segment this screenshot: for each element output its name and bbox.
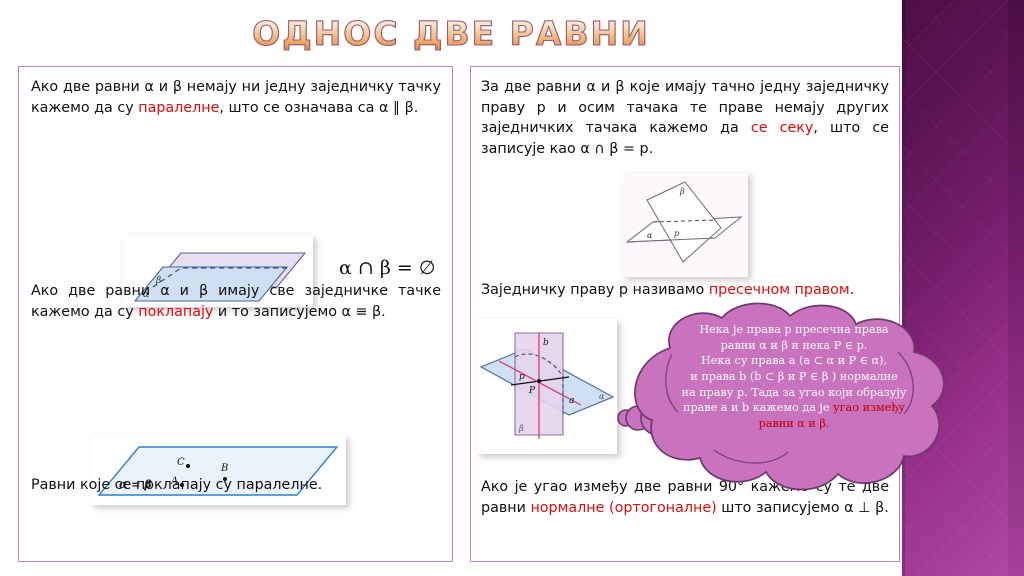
cloud-line-4: и права b (b ⊂ β и P ∈ β ) нормалне: [690, 370, 897, 383]
right-p3-highlight: нормалне (ортогоналне): [530, 500, 716, 516]
right-p2-after: .: [850, 282, 855, 298]
svg-text:β: β: [518, 424, 524, 433]
right-p2-before: Заједничку праву p називамо: [481, 282, 709, 298]
title-bar: ОДНОС ДВЕ РАВНИ: [0, 8, 902, 58]
cloud-line-2: равни α и β и нека P ∈ p.: [721, 339, 868, 352]
intersecting-planes-svg: α β p: [623, 172, 748, 277]
figure-intersecting-planes: α β p: [623, 172, 748, 277]
left-p2-highlight: поклапају: [138, 304, 213, 320]
cloud-callout-text: Нека је права p пресечна права равни α и…: [666, 322, 922, 432]
figure-normal-planes: p P a b α β: [477, 319, 617, 454]
svg-text:P: P: [528, 386, 536, 396]
cloud-line-3: Нека су права a (a ⊂ α и P ∈ α),: [701, 354, 887, 367]
svg-text:b: b: [543, 338, 549, 348]
page-title: ОДНОС ДВЕ РАВНИ: [252, 14, 650, 53]
svg-text:β: β: [679, 187, 685, 196]
svg-text:B: B: [220, 463, 228, 474]
right-p2-highlight: пресечном правом: [709, 282, 850, 298]
svg-text:α: α: [647, 231, 653, 240]
cloud-line-6-highlight: угао између: [833, 401, 905, 414]
left-content-panel: Ако две равни α и β немају ни једну заје…: [18, 66, 453, 562]
svg-text:C: C: [177, 457, 185, 468]
right-p3-after: што записујемо α ⊥ β.: [717, 500, 889, 516]
svg-text:p: p: [519, 372, 525, 382]
cloud-line-6-before: праве a и b кажемо да је: [683, 401, 833, 414]
right-p1-highlight: се секу: [751, 120, 814, 136]
left-paragraph-parallel: Ако две равни α и β немају ни једну заје…: [31, 77, 441, 118]
cloud-line-7-highlight: равни α и β.: [759, 417, 830, 430]
cloud-callout: Нека је права p пресечна права равни α и…: [598, 300, 958, 495]
right-paragraph-intersect: За две равни α и β које имају тачно једн…: [481, 77, 889, 160]
left-paragraph-coincide: Ако две равни α и β имају све заједничке…: [31, 281, 441, 322]
normal-planes-svg: p P a b α β: [477, 319, 617, 454]
svg-text:a: a: [569, 396, 574, 406]
band-right-strip: [1008, 0, 1024, 576]
svg-text:p: p: [674, 229, 679, 238]
right-paragraph-cutting-line: Заједничку праву p називамо пресечном пр…: [481, 280, 889, 301]
left-p1-highlight: паралелне: [138, 100, 219, 116]
left-p1-after: , што се означава са α ∥ β.: [219, 100, 418, 116]
cloud-line-5: на праву p. Тада за угао који образују: [682, 386, 907, 399]
left-p2-after: и то записујемо α ≡ β.: [213, 304, 385, 320]
figure-parallel-caption: α ∩ β = ∅: [339, 257, 435, 279]
cloud-line-1: Нека је права p пресечна права: [699, 323, 888, 336]
left-paragraph-note: Равни које се поклапају су паралелне.: [31, 475, 441, 496]
